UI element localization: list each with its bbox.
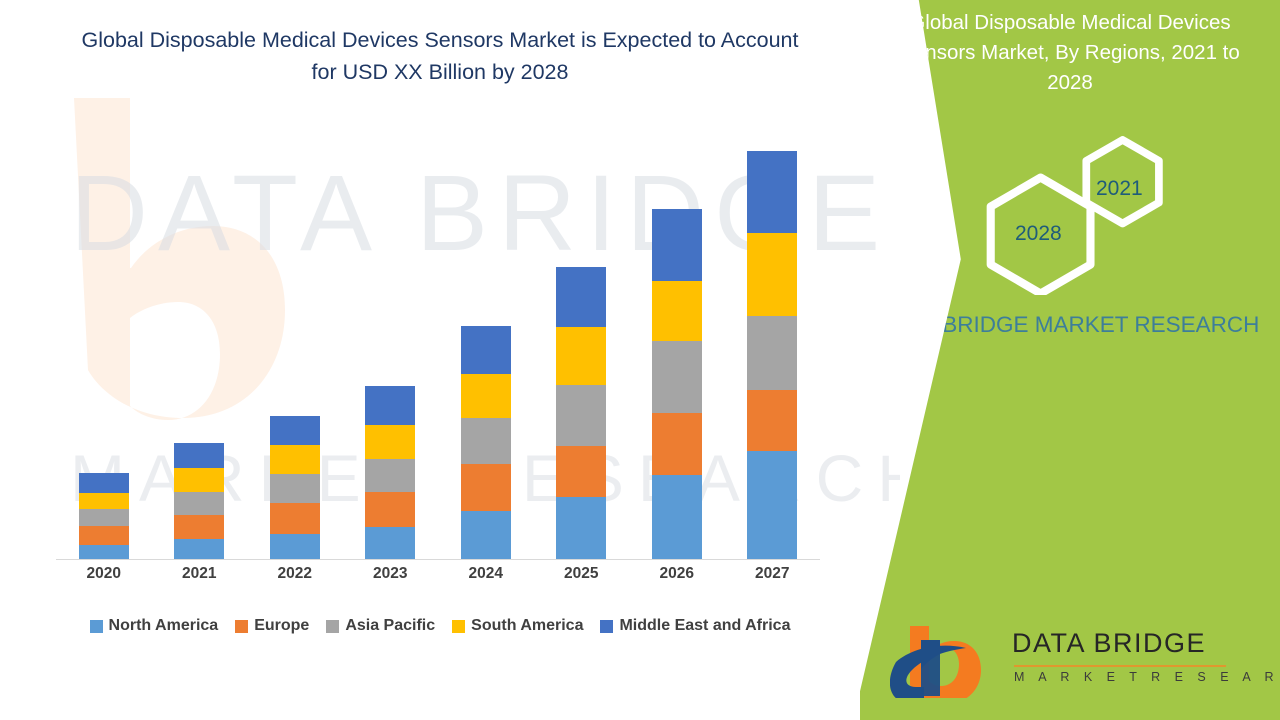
legend-swatch-icon (235, 620, 248, 633)
legend-item[interactable]: Asia Pacific (326, 617, 435, 635)
hexagon-outline-icon (860, 130, 1280, 295)
stacked-bar-2022[interactable] (270, 416, 320, 560)
bar-segment[interactable] (365, 459, 415, 492)
bar-segment[interactable] (270, 474, 320, 503)
hex-badge-2021-label: 2021 (1096, 177, 1143, 201)
chart-panel: DATA BRIDGE MARKET RESEARCH Global Dispo… (0, 0, 900, 720)
hexagon-badges: 2021 2028 (860, 130, 1280, 295)
logo-wordmark: DATA BRIDGE (1012, 628, 1206, 659)
chart-title: Global Disposable Medical Devices Sensor… (70, 24, 810, 88)
bar-segment[interactable] (79, 509, 129, 526)
stacked-bar-2021[interactable] (174, 443, 224, 560)
bar-column[interactable] (152, 120, 247, 560)
x-axis-label-2023: 2023 (343, 565, 438, 591)
legend-label: Europe (254, 617, 309, 635)
bar-segment[interactable] (365, 492, 415, 527)
bar-segment[interactable] (79, 526, 129, 545)
bar-segment[interactable] (747, 316, 797, 390)
bar-column[interactable] (725, 120, 820, 560)
legend-item[interactable]: Europe (235, 617, 309, 635)
bar-segment[interactable] (174, 539, 224, 560)
stacked-bar-2024[interactable] (461, 326, 511, 560)
branding-panel: Global Disposable Medical Devices Sensor… (860, 0, 1280, 720)
bar-segment[interactable] (652, 341, 702, 413)
bar-segment[interactable] (79, 473, 129, 493)
x-axis-label-2021: 2021 (152, 565, 247, 591)
data-bridge-logo-icon (890, 618, 1005, 698)
bar-column[interactable] (534, 120, 629, 560)
bar-segment[interactable] (556, 385, 606, 446)
logo-tagline: M A R K E T R E S E A R C H (1014, 670, 1280, 684)
chart-legend: North AmericaEuropeAsia PacificSouth Ame… (40, 617, 840, 635)
legend-swatch-icon (452, 620, 465, 633)
bar-segment[interactable] (270, 416, 320, 445)
bar-segment[interactable] (747, 151, 797, 234)
bar-column[interactable] (56, 120, 151, 560)
legend-swatch-icon (326, 620, 339, 633)
bar-segment[interactable] (747, 390, 797, 452)
bar-segment[interactable] (174, 443, 224, 467)
bar-segment[interactable] (270, 534, 320, 560)
infographic-root: DATA BRIDGE MARKET RESEARCH Global Dispo… (0, 0, 1280, 720)
brand-name: DATA BRIDGE MARKET RESEARCH (860, 308, 1280, 341)
legend-item[interactable]: South America (452, 617, 583, 635)
bar-segment[interactable] (556, 446, 606, 498)
bar-column[interactable] (629, 120, 724, 560)
bar-segment[interactable] (365, 425, 415, 459)
stacked-bar-2020[interactable] (79, 473, 129, 560)
bar-segment[interactable] (270, 445, 320, 475)
legend-swatch-icon (600, 620, 613, 633)
bar-segment[interactable] (174, 468, 224, 492)
legend-item[interactable]: Middle East and Africa (600, 617, 790, 635)
bar-segment[interactable] (461, 374, 511, 418)
legend-item[interactable]: North America (90, 617, 219, 635)
bar-segment[interactable] (461, 464, 511, 510)
stacked-bar-2027[interactable] (747, 151, 797, 560)
bar-segment[interactable] (461, 511, 511, 561)
bar-segment[interactable] (270, 503, 320, 534)
logo-divider (1014, 665, 1226, 667)
bar-column[interactable] (247, 120, 342, 560)
legend-label: North America (109, 617, 219, 635)
bar-segment[interactable] (79, 493, 129, 510)
legend-label: Asia Pacific (345, 617, 435, 635)
x-axis-label-2026: 2026 (629, 565, 724, 591)
bar-segment[interactable] (652, 413, 702, 476)
panel-title: Global Disposable Medical Devices Sensor… (860, 8, 1280, 98)
x-axis-label-2027: 2027 (725, 565, 820, 591)
bar-segment[interactable] (747, 233, 797, 316)
stacked-bar-2025[interactable] (556, 267, 606, 560)
legend-label: South America (471, 617, 583, 635)
bar-segment[interactable] (461, 418, 511, 464)
bar-segment[interactable] (365, 386, 415, 425)
x-axis-label-2022: 2022 (247, 565, 342, 591)
x-axis-line (56, 559, 820, 560)
bar-segment[interactable] (652, 281, 702, 342)
bar-segment[interactable] (556, 327, 606, 385)
stacked-bar-2026[interactable] (652, 209, 702, 560)
bar-segment[interactable] (652, 209, 702, 281)
bar-segment[interactable] (365, 527, 415, 560)
bar-segment[interactable] (652, 475, 702, 560)
x-axis-label-2020: 2020 (56, 565, 151, 591)
bar-segment[interactable] (461, 326, 511, 374)
stacked-bar-2023[interactable] (365, 386, 415, 560)
x-axis-label-2025: 2025 (534, 565, 629, 591)
bar-column[interactable] (343, 120, 438, 560)
bar-segment[interactable] (174, 515, 224, 539)
bar-segment[interactable] (556, 497, 606, 560)
hex-badge-2028-label: 2028 (1015, 222, 1062, 246)
legend-swatch-icon (90, 620, 103, 633)
x-axis-labels: 20202021202220232024202520262027 (56, 565, 820, 591)
bar-segment[interactable] (79, 545, 129, 560)
x-axis-label-2024: 2024 (438, 565, 533, 591)
bar-segment[interactable] (556, 267, 606, 326)
company-logo: DATA BRIDGE M A R K E T R E S E A R C H (890, 618, 1250, 704)
bar-series-container (56, 120, 820, 560)
bar-segment[interactable] (174, 492, 224, 515)
bar-column[interactable] (438, 120, 533, 560)
plot-area (56, 120, 820, 560)
legend-label: Middle East and Africa (619, 617, 790, 635)
bar-segment[interactable] (747, 451, 797, 560)
